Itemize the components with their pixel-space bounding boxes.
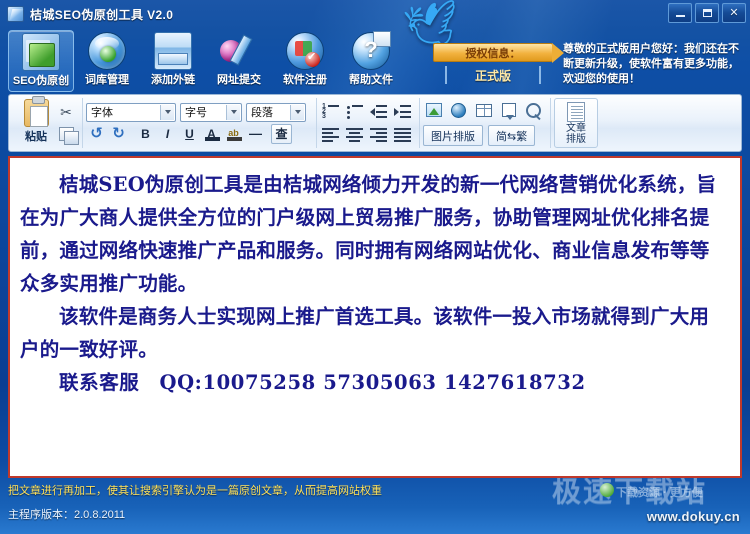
editor-paragraph-contact: 联系客服 QQ:10075258 57305063 1427618732 [20,366,728,399]
add-backlink-icon [154,32,192,70]
font-combo-row: 字体 字号 段落 [86,103,310,122]
align-center-button[interactable] [344,124,365,144]
zoom-search-button[interactable] [523,100,544,120]
underline-button[interactable]: U [179,124,200,144]
bold-button[interactable]: B [135,124,156,144]
numbered-list-icon: 123 [322,105,339,119]
window-controls: ✕ [668,3,746,23]
insert-icon-row [423,100,544,120]
status-tip: 把文章进行再加工，使其让搜索引擎认为是一篇原创文章，从而提高网站权重 [8,482,382,498]
font-family-value: 字体 [91,104,113,120]
align-justify-button[interactable] [392,124,413,144]
site-watermark: 极速下载站 下载资源 · 更方便 www.dokuy.cn [550,478,746,526]
chevron-down-icon[interactable] [226,105,240,120]
numbered-list-button[interactable]: 123 [320,102,341,122]
toolbar-item-lexicon[interactable]: 词库管理 [74,30,140,92]
highlight-button[interactable]: ab [223,124,244,144]
insert-image-button[interactable] [423,100,444,120]
application-window: 桔城SEO伪原创工具 V2.0 ✕ SEO伪原创 词库管理 添加外链 网 [0,0,750,534]
editor-panel[interactable]: 桔城SEO伪原创工具是由桔城网络倾力开发的新一代网络营销优化系统，旨在为广大商人… [8,156,742,478]
paste-label: 粘贴 [25,128,47,144]
decrease-indent-icon [370,105,387,119]
license-info-plate: 授权信息： [433,43,553,62]
format-ribbon: 粘贴 ✂ 字体 字号 [8,94,742,152]
decrease-indent-button[interactable] [368,102,389,122]
list-button-row: 123 [320,102,413,122]
close-icon: ✕ [729,8,738,19]
version-label: 主程序版本：2.0.8.2011 [8,506,125,522]
article-layout-group: 文章 排版 [550,98,601,148]
redo-arrow-icon: ↻ [112,126,125,141]
paragraph-group: 123 [316,98,416,148]
redo-button[interactable]: ↻ [108,124,129,144]
strikethrough-label: — [249,127,262,140]
increase-indent-button[interactable] [392,102,413,122]
article-layout-label-1: 文章 [566,123,586,134]
cut-button[interactable]: ✂ [56,102,76,122]
editor-paragraph: 桔城SEO伪原创工具是由桔城网络倾力开发的新一代网络营销优化系统，旨在为广大商人… [20,168,728,300]
license-info-label: 授权信息： [466,45,521,61]
clipboard-group: 粘贴 ✂ [13,98,79,148]
clipboard-paste-icon [24,99,49,127]
align-right-button[interactable] [368,124,389,144]
rich-text-editor[interactable]: 桔城SEO伪原创工具是由桔城网络倾力开发的新一代网络营销优化系统，旨在为广大商人… [10,158,740,476]
close-button[interactable]: ✕ [722,3,746,23]
insert-table-icon [476,104,492,117]
watermark-subtext: 下载资源 · 更方便 [616,484,703,500]
undo-arrow-icon: ↺ [90,126,103,141]
toolbar-label: 软件注册 [283,71,327,87]
license-edition: 正式版 [445,66,541,84]
minimize-button[interactable] [668,3,692,23]
software-register-icon [286,32,324,70]
highlight-swatch [227,137,242,141]
undo-button[interactable]: ↺ [86,124,107,144]
lexicon-orb-icon [88,32,126,70]
title-bar: 桔城SEO伪原创工具 V2.0 ✕ [0,0,750,28]
paragraph-combo[interactable]: 段落 [246,103,306,122]
url-submit-icon [220,32,258,70]
bulleted-list-icon [346,105,363,119]
seo-rewrite-icon [22,33,60,71]
toolbar-item-software-register[interactable]: 软件注册 [272,30,338,92]
toolbar-label: 网址提交 [217,71,261,87]
font-group: 字体 字号 段落 ↺ ↻ B [82,98,313,148]
license-banner: 🕊 授权信息： 正式版 尊敬的正式版用户您好：我们还在不断更新升级，使软件富有更… [385,30,745,92]
toolbar-label: 词库管理 [85,71,129,87]
bold-label: B [141,128,150,140]
toolbar-item-seo-rewrite[interactable]: SEO伪原创 [8,30,74,92]
toolbar-label: 添加外链 [151,71,195,87]
font-size-combo[interactable]: 字号 [180,103,242,122]
font-color-swatch [205,137,220,141]
window-title: 桔城SEO伪原创工具 V2.0 [30,6,173,23]
copy-icon [59,127,74,141]
copy-button[interactable] [56,124,76,144]
italic-label: I [166,128,169,140]
image-layout-button[interactable]: 图片排版 [423,125,483,146]
align-left-button[interactable] [320,124,341,144]
align-button-row [320,124,413,144]
chevron-down-icon[interactable] [160,105,174,120]
insert-image-icon [426,103,442,117]
align-left-icon [322,128,339,141]
scissors-cut-icon: ✂ [60,105,72,119]
find-label: 查 [275,128,287,140]
toolbar-label: SEO伪原创 [13,72,69,88]
paragraph-value: 段落 [251,104,273,120]
layout-button-row: 图片排版 简⇆繁 [423,125,544,146]
app-logo-icon [7,6,24,22]
font-size-value: 字号 [185,104,207,120]
zoom-search-icon [526,103,541,118]
insert-hyperlink-button[interactable] [448,100,469,120]
document-page-icon [567,102,585,122]
insert-comment-button[interactable] [498,100,519,120]
minimize-icon [676,15,685,17]
bulleted-list-button[interactable] [344,102,365,122]
insert-hyperlink-icon [451,103,466,118]
article-layout-label-2: 排版 [566,134,586,145]
italic-button[interactable]: I [157,124,178,144]
editor-paragraph: 该软件是商务人士实现网上推广首选工具。该软件一投入市场就得到广大用户的一致好评。 [20,300,728,366]
watermark-url: www.dokuy.cn [647,509,740,524]
paste-button[interactable]: 粘贴 [16,98,56,148]
align-right-icon [370,128,387,141]
align-center-icon [346,128,363,141]
insert-group: 图片排版 简⇆繁 [419,98,547,148]
maximize-button[interactable] [695,3,719,23]
chevron-down-icon[interactable] [290,105,304,120]
watermark-badge-icon [600,483,614,497]
font-color-button[interactable]: A [201,124,222,144]
license-message: 尊敬的正式版用户您好：我们还在不断更新升级，使软件富有更多功能，欢迎您的使用！ [563,42,743,87]
insert-table-button[interactable] [473,100,494,120]
toolbar-item-add-backlink[interactable]: 添加外链 [140,30,206,92]
article-layout-button[interactable]: 文章 排版 [554,98,598,148]
increase-indent-icon [394,105,411,119]
strikethrough-button[interactable]: — [245,124,266,144]
status-bar: 把文章进行再加工，使其让搜索引擎认为是一篇原创文章，从而提高网站权重 主程序版本… [0,478,750,526]
maximize-icon [703,9,712,17]
insert-comment-icon [502,103,516,117]
underline-label: U [185,128,194,140]
toolbar-item-url-submit[interactable]: 网址提交 [206,30,272,92]
font-family-combo[interactable]: 字体 [86,103,176,122]
find-button[interactable]: 查 [271,124,292,144]
simplified-traditional-button[interactable]: 简⇆繁 [488,125,535,146]
format-button-row: ↺ ↻ B I U A ab — 查 [86,124,310,144]
align-justify-icon [394,128,411,141]
